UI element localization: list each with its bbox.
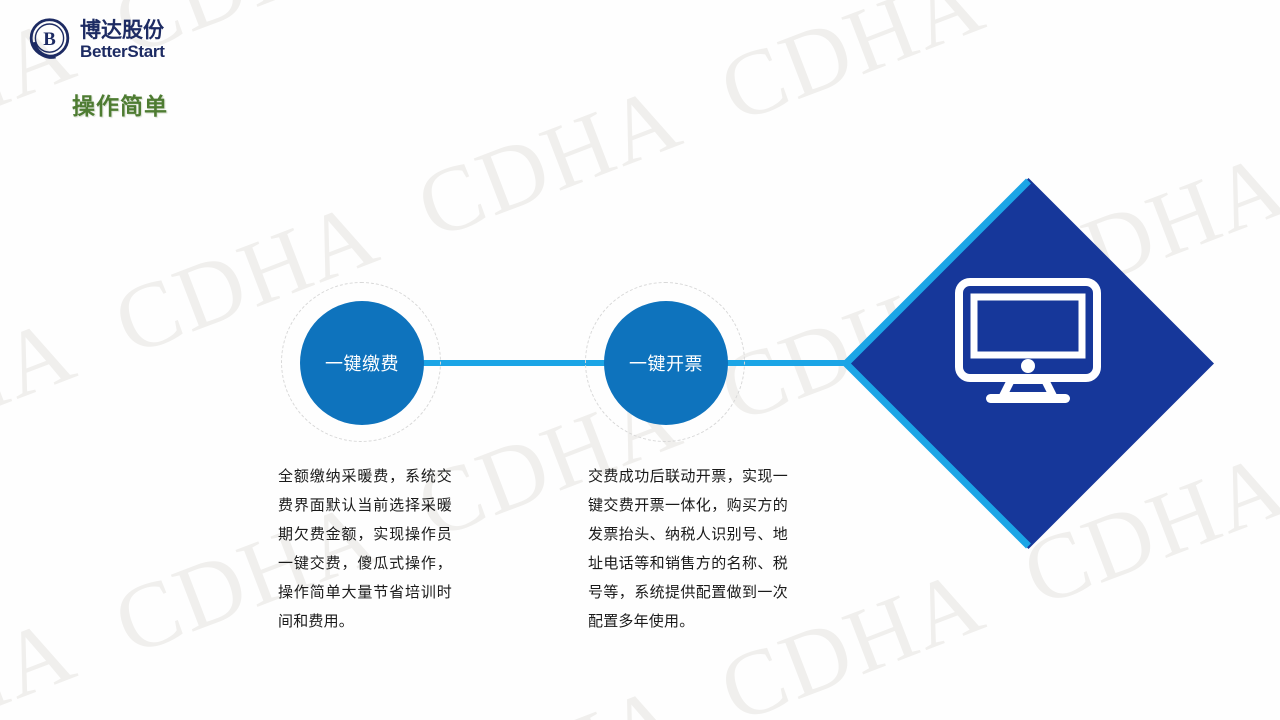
watermark-text: CDHA [1012,0,1280,22]
flow-node-1[interactable]: 一键缴费 [281,282,443,444]
watermark-text: CDHA [406,653,738,720]
node-circle[interactable]: 一键开票 [604,301,728,425]
page-title: 操作简单 [72,87,168,121]
flow-node-2-description: 交费成功后联动开票，实现一键交费开票一体化，购买方的发票抬头、纳税人识别号、地址… [588,462,788,636]
slide-canvas: CDHA CDHA CDHA CDHA CDHA CDHA CDHA CDHA … [0,0,1280,720]
watermark-row: CDHA CDHA CDHA CDHA CDHA CDHA [0,691,1280,720]
brand-logo: B 博达股份 BetterStart [26,16,165,63]
watermark-text: CDHA [0,585,132,720]
flow-node-2[interactable]: 一键开票 [585,282,747,444]
svg-text:B: B [43,29,56,50]
brand-text: 博达股份 BetterStart [80,20,165,60]
flow-node-2-label: 一键开票 [629,350,703,376]
watermark-text: CDHA [406,53,738,255]
brand-name-cn: 博达股份 [80,20,165,41]
flow-node-1-label: 一键缴费 [325,350,399,376]
flow-node-1-description: 全额缴纳采暖费，系统交费界面默认当前选择采暖期欠费金额，实现操作员一键交费，傻瓜… [278,462,452,636]
watermark-text: CDHA [0,285,132,487]
flow-endpoint-diamond[interactable] [843,178,1214,549]
watermark-row: CDHA CDHA CDHA CDHA CDHA CDHA [0,0,1280,80]
desktop-monitor-icon [953,276,1103,406]
node-circle[interactable]: 一键缴费 [300,301,424,425]
watermark-text: CDHA [709,0,1041,138]
betterstart-circle-b-logo-icon: B [26,16,73,63]
brand-name-en: BetterStart [80,43,165,60]
